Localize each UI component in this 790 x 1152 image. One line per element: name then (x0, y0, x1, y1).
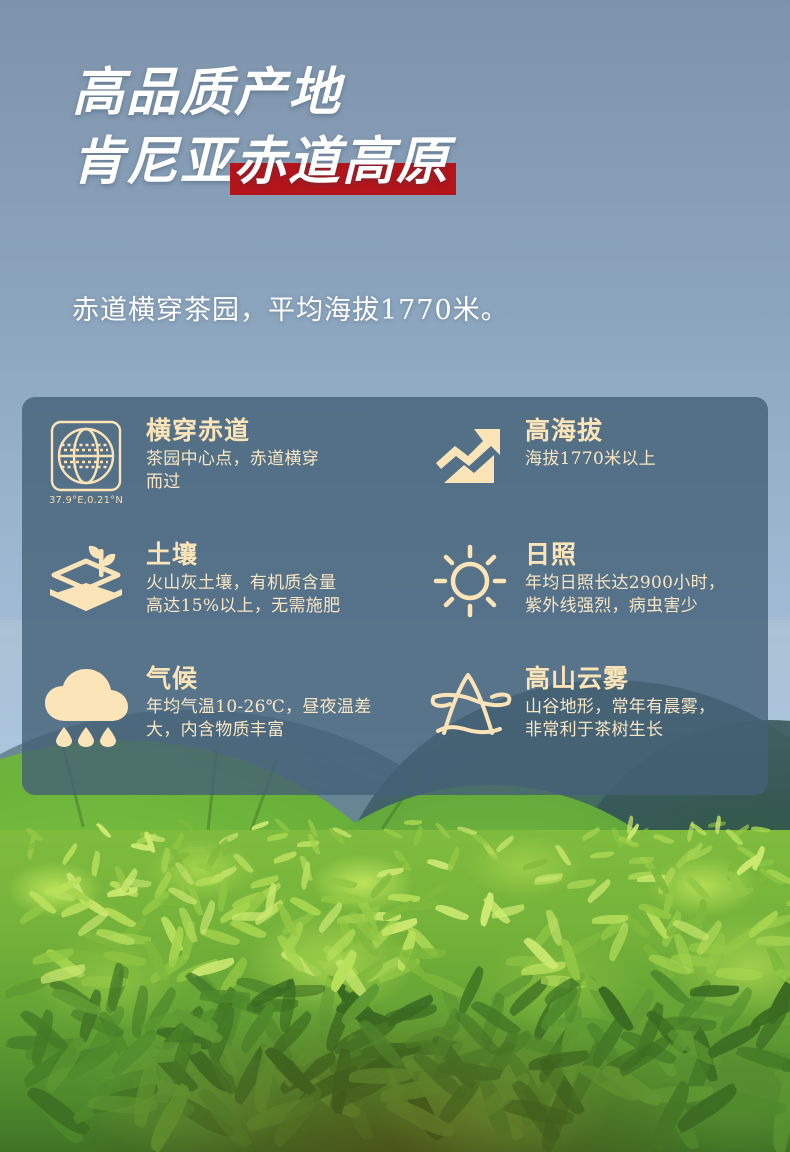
headline-line-2-plain: 肯尼亚 (72, 132, 234, 192)
page-subtitle: 赤道横穿茶园，平均海拔1770米。 (72, 288, 509, 327)
feature-description: 海拔1770米以上 (525, 448, 656, 471)
feature-text: 日照 年均日照长达2900小时， 紫外线强烈，病虫害少 (525, 541, 725, 619)
growth-chart-arrow-icon (429, 417, 511, 487)
headline-line-2-highlight: 赤道高原 (234, 132, 450, 192)
feature-text: 土壤 火山灰土壤，有机质含量 高达15%以上，无需施肥 (146, 541, 340, 619)
feature-desc-line-1: 火山灰土壤，有机质含量 (146, 572, 340, 595)
headline-line-2: 肯尼亚赤道高原 (72, 131, 450, 194)
feature-title: 横穿赤道 (146, 417, 319, 445)
feature-description: 茶园中心点，赤道横穿 而过 (146, 448, 319, 495)
product-detail-page: 高品质产地 肯尼亚赤道高原 赤道横穿茶园，平均海拔1770米。 37.9°E,0… (0, 0, 790, 1152)
headline-line-1: 高品质产地 (72, 62, 450, 125)
soil-layers-sprout-icon (40, 541, 132, 619)
feature-title: 高海拔 (525, 417, 656, 445)
feature-title: 高山云雾 (525, 665, 715, 693)
feature-item-mountain-mist[interactable]: 高山云雾 山谷地形，常年有晨雾， 非常利于茶树生长 (429, 661, 768, 785)
feature-desc-line-2: 非常利于茶树生长 (525, 719, 715, 742)
feature-desc-line-2: 紫外线强烈，病虫害少 (525, 595, 725, 618)
feature-desc-line-1: 茶园中心点，赤道横穿 (146, 448, 319, 471)
feature-item-altitude[interactable]: 高海拔 海拔1770米以上 (429, 413, 768, 537)
feature-item-climate[interactable]: 气候 年均气温10-26℃，昼夜温差 大，内含物质丰富 (40, 661, 429, 785)
feature-description: 年均气温10-26℃，昼夜温差 大，内含物质丰富 (146, 696, 372, 743)
feature-desc-line-2: 而过 (146, 471, 319, 494)
feature-title: 气候 (146, 665, 372, 693)
feature-desc-line-1: 年均气温10-26℃，昼夜温差 (146, 696, 372, 719)
feature-title: 土壤 (146, 541, 340, 569)
feature-text: 气候 年均气温10-26℃，昼夜温差 大，内含物质丰富 (146, 665, 372, 743)
feature-text: 横穿赤道 茶园中心点，赤道横穿 而过 (146, 417, 319, 495)
feature-item-sunlight[interactable]: 日照 年均日照长达2900小时， 紫外线强烈，病虫害少 (429, 537, 768, 661)
sun-icon (429, 541, 511, 619)
feature-desc-line-1: 海拔1770米以上 (525, 448, 656, 471)
feature-panel: 37.9°E,0.21°N 横穿赤道 茶园中心点，赤道横穿 而过 高海拔 (22, 397, 768, 795)
rain-cloud-icon (40, 665, 132, 747)
feature-desc-line-2: 高达15%以上，无需施肥 (146, 595, 340, 618)
feature-description: 火山灰土壤，有机质含量 高达15%以上，无需施肥 (146, 572, 340, 619)
feature-item-equator[interactable]: 37.9°E,0.21°N 横穿赤道 茶园中心点，赤道横穿 而过 (40, 413, 429, 537)
globe-grid-icon: 37.9°E,0.21°N (40, 417, 132, 506)
feature-desc-line-1: 山谷地形，常年有晨雾， (525, 696, 715, 719)
mountain-mist-icon (429, 665, 511, 743)
feature-item-soil[interactable]: 土壤 火山灰土壤，有机质含量 高达15%以上，无需施肥 (40, 537, 429, 661)
feature-text: 高山云雾 山谷地形，常年有晨雾， 非常利于茶树生长 (525, 665, 715, 743)
page-title: 高品质产地 肯尼亚赤道高原 (72, 62, 450, 195)
coordinates-label: 37.9°E,0.21°N (49, 495, 123, 506)
feature-desc-line-2: 大，内含物质丰富 (146, 719, 372, 742)
headline-highlight-wrap: 赤道高原 (234, 131, 450, 194)
feature-title: 日照 (525, 541, 725, 569)
feature-desc-line-1: 年均日照长达2900小时， (525, 572, 725, 595)
feature-description: 年均日照长达2900小时， 紫外线强烈，病虫害少 (525, 572, 725, 619)
feature-description: 山谷地形，常年有晨雾， 非常利于茶树生长 (525, 696, 715, 743)
feature-text: 高海拔 海拔1770米以上 (525, 417, 656, 471)
